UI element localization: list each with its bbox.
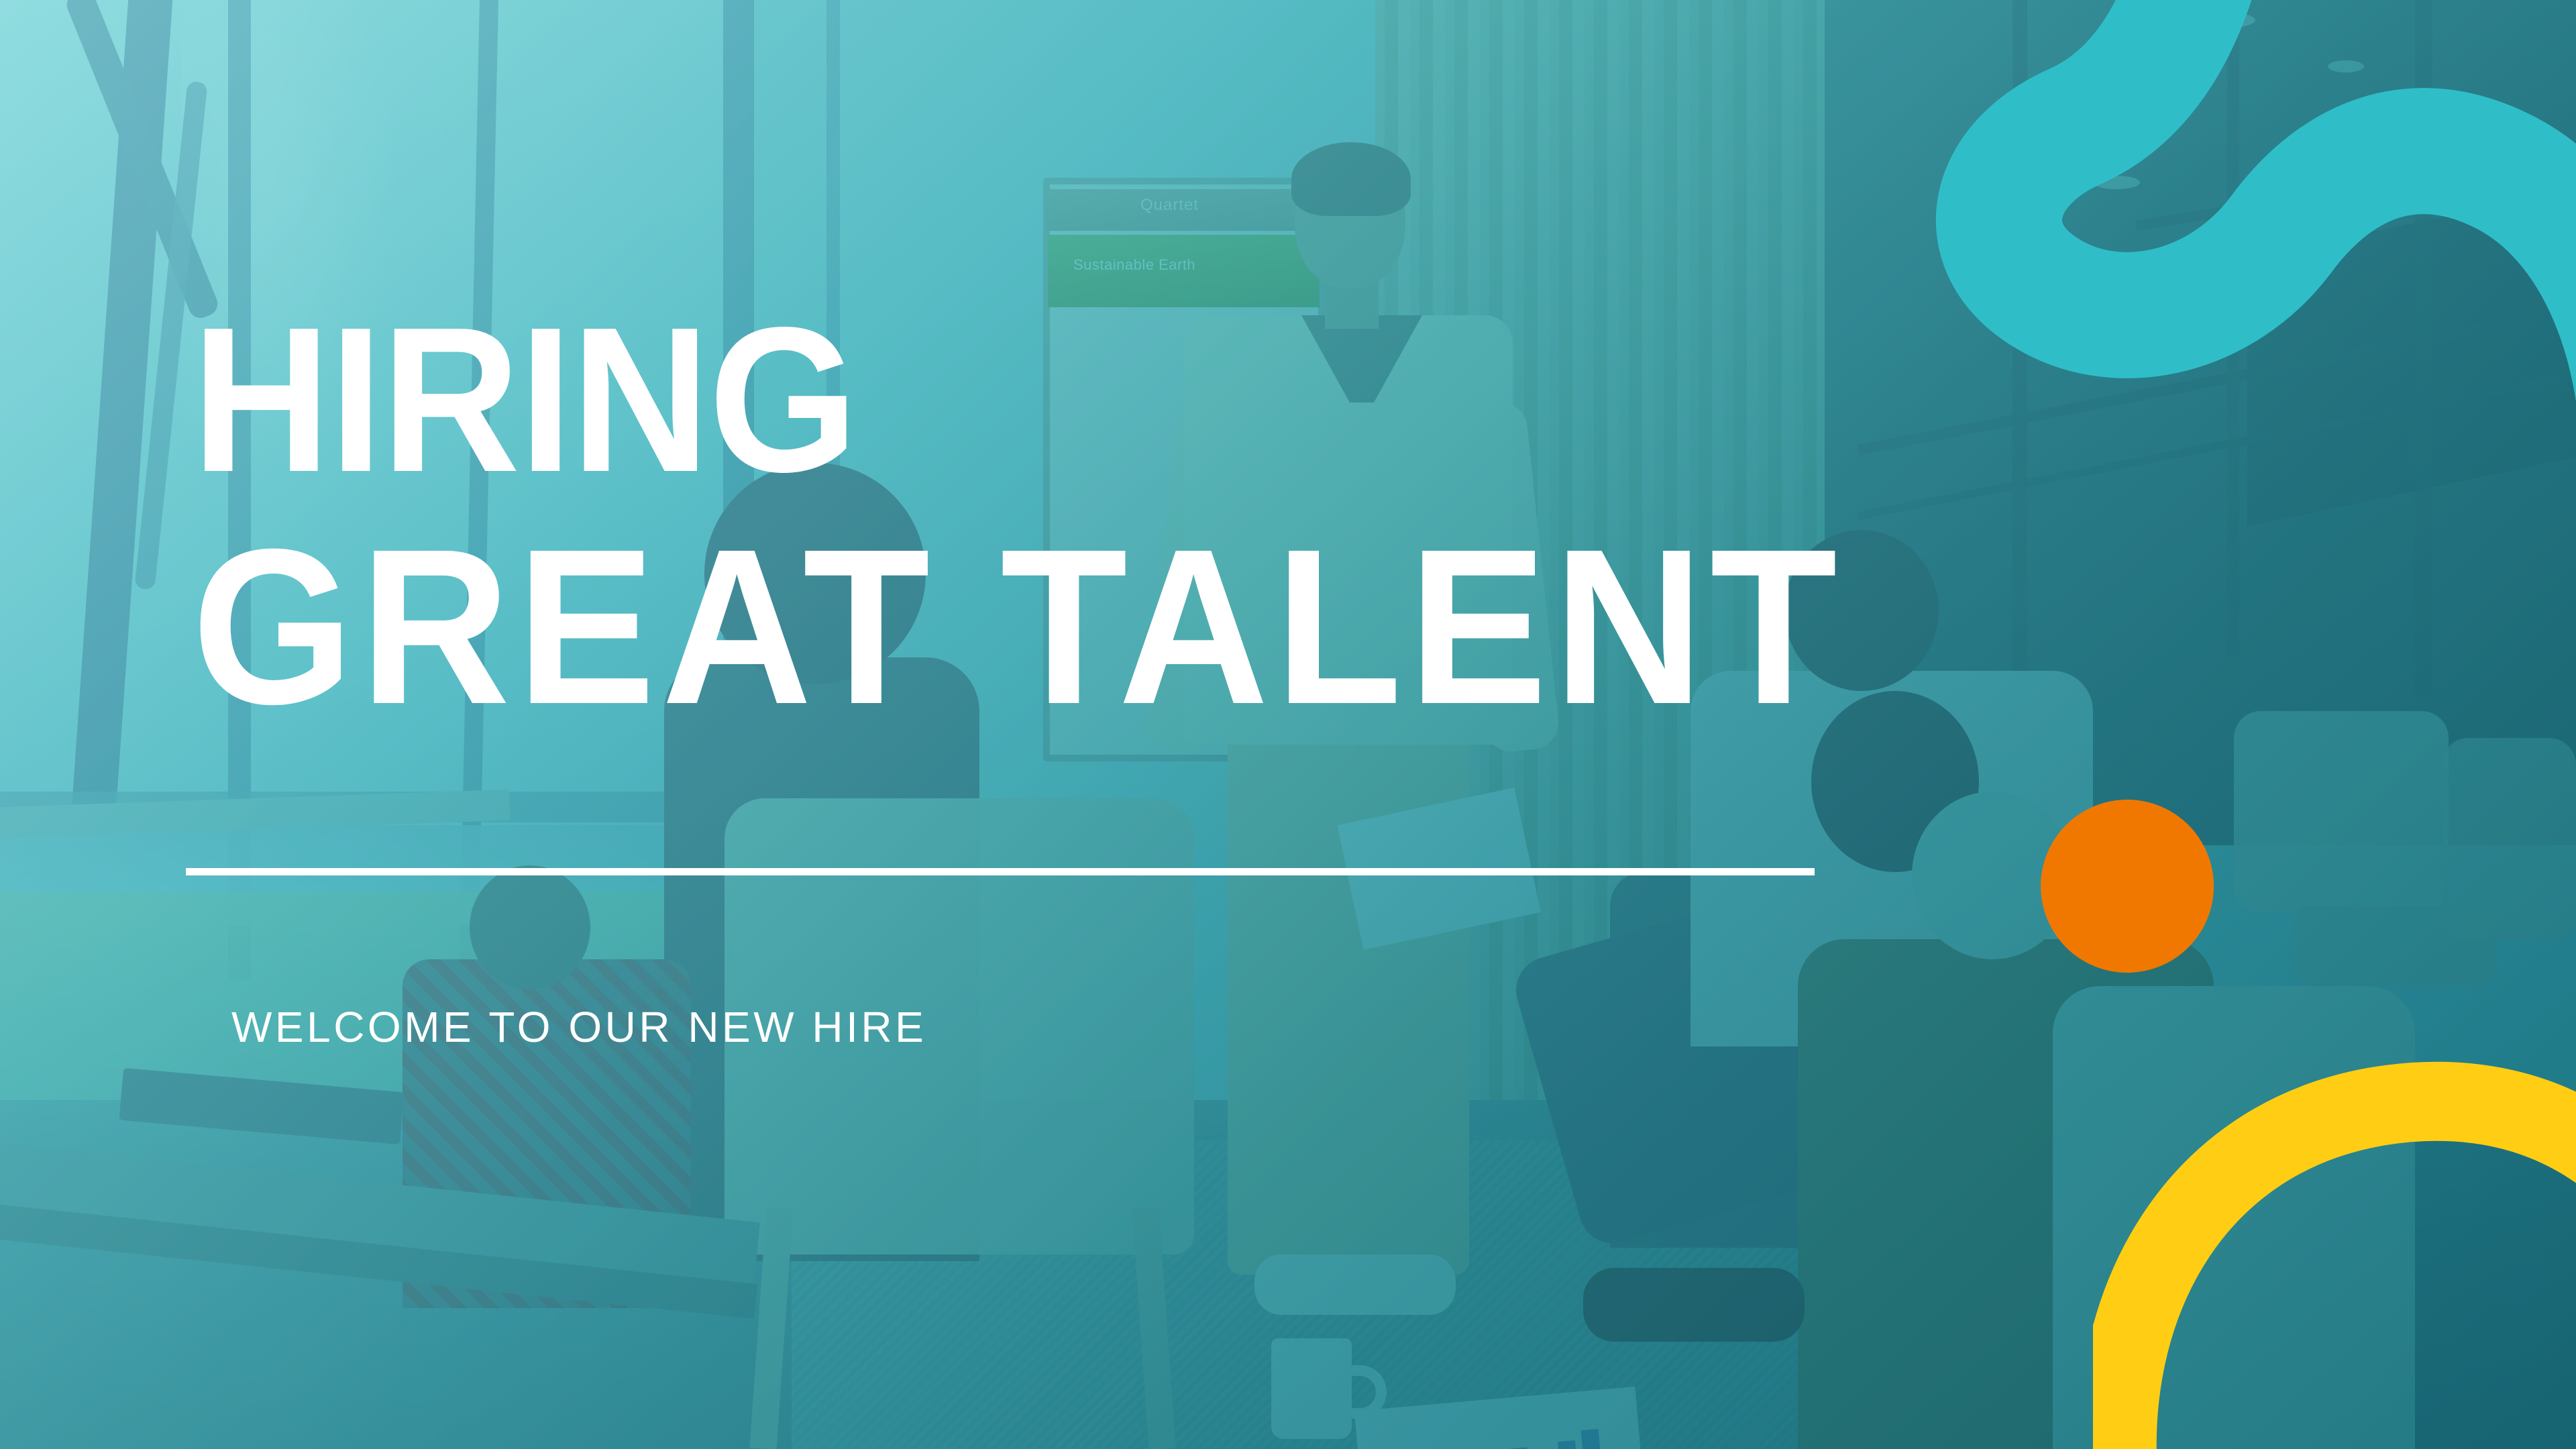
subtitle-text: WELCOME TO OUR NEW HIRE [231, 1002, 926, 1052]
hiring-banner: Quartet Sustainable Earth [0, 0, 2576, 1449]
divider-rule [186, 868, 1815, 875]
headline-line-2: GREAT TALENT [192, 525, 1843, 729]
headline-line-1: HIRING [192, 305, 857, 495]
copy-block: HIRING GREAT TALENT WELCOME TO OUR NEW H… [0, 0, 2576, 1449]
